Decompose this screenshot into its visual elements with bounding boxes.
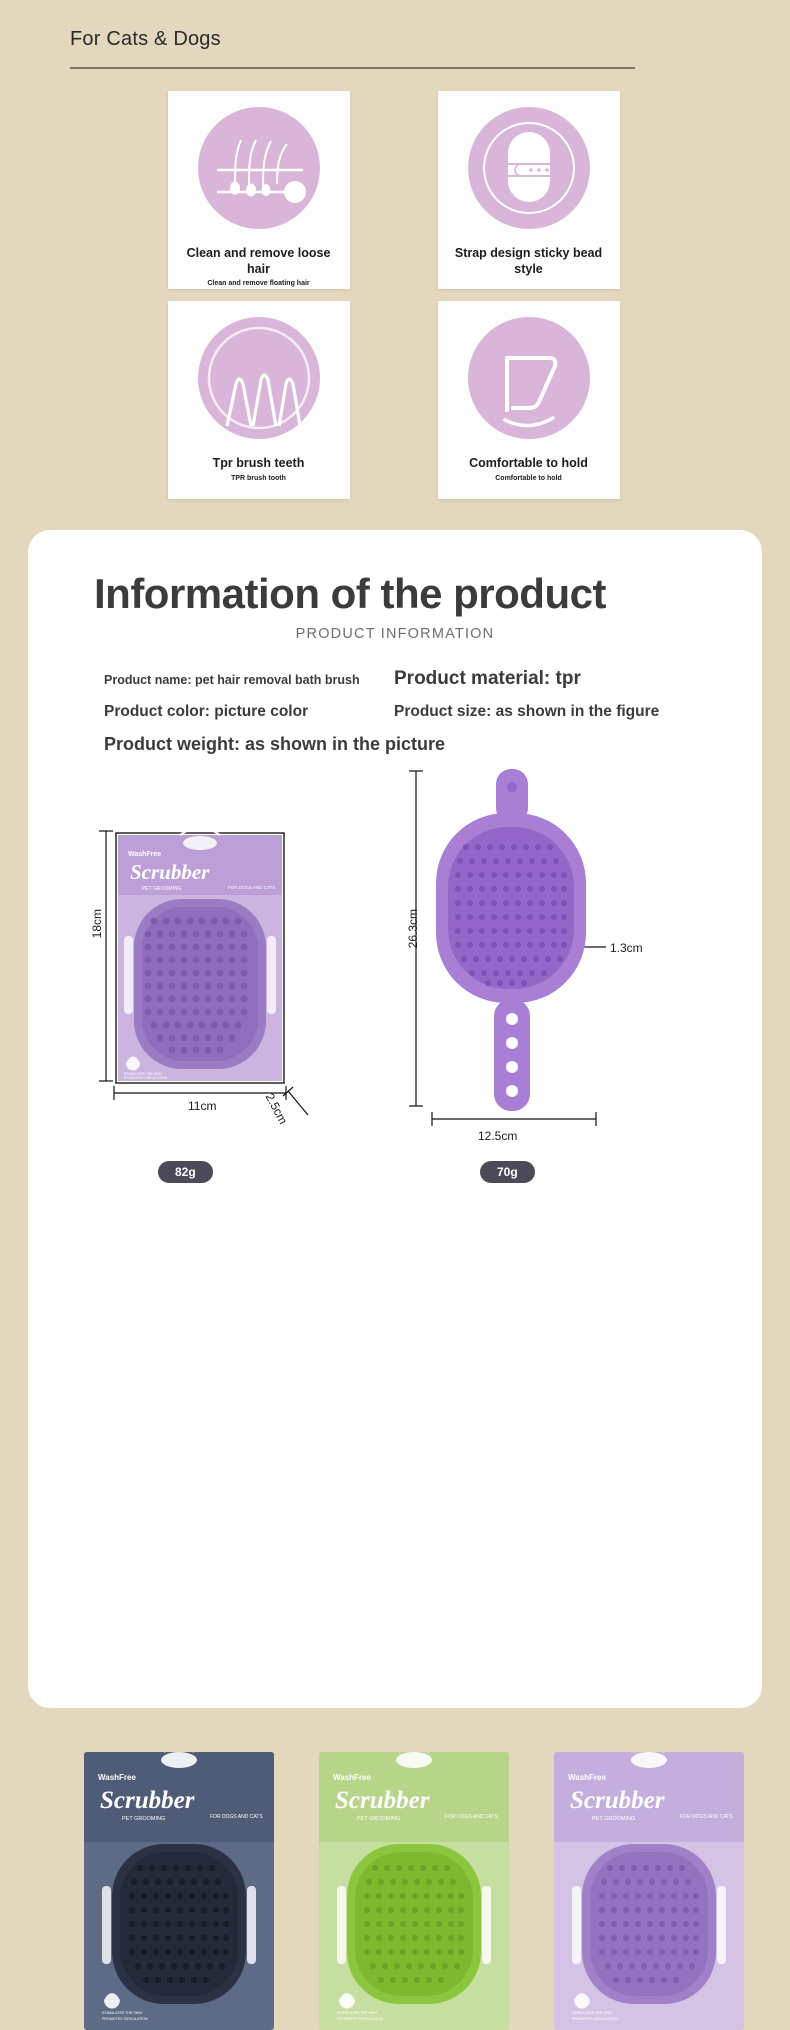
brush-product-diagram — [388, 751, 698, 1151]
feature-caption: Strap design sticky bead style — [446, 246, 611, 277]
brush-strap-icon — [461, 104, 597, 240]
brush-teeth-icon — [191, 314, 327, 450]
information-subtitle: PRODUCT INFORMATION — [28, 626, 762, 642]
weight-badge-packaged: 82g — [158, 1161, 213, 1183]
feature-caption: Clean and remove loose hair — [176, 246, 341, 277]
svg-text:Scrubber: Scrubber — [100, 1787, 195, 1814]
svg-text:WashFree: WashFree — [333, 1773, 371, 1782]
packaged-product-diagram: WashFree Scrubber PET GROOMING FOR DOGS … — [68, 771, 398, 1171]
feature-card-grid: Clean and remove loose hair Clean and re… — [168, 91, 623, 499]
weight-badge-brush: 70g — [480, 1161, 535, 1183]
page-header: For Cats & Dogs — [0, 0, 790, 69]
svg-text:WashFree: WashFree — [98, 1773, 136, 1782]
spec-row-name-material: Product name: pet hair removal bath brus… — [104, 668, 704, 690]
spec-product-size: Product size: as shown in the figure — [394, 703, 659, 721]
variant-card-green[interactable]: WashFree Scrubber PET GROOMING FOR DOGS … — [319, 1752, 509, 2030]
hair-follicle-icon — [191, 104, 327, 240]
svg-text:PROMOTES CIRCULATION: PROMOTES CIRCULATION — [572, 2017, 618, 2021]
variant-card-dark-blue[interactable]: WashFree Scrubber PET GROOMING FOR DOGS … — [84, 1752, 274, 2030]
feature-subtitle: Clean and remove floating hair — [207, 280, 309, 287]
feature-card-tpr-teeth[interactable]: Tpr brush teeth TPR brush tooth — [168, 301, 350, 499]
svg-text:FOR DOGS AND CATS: FOR DOGS AND CATS — [680, 1814, 733, 1820]
svg-text:PET GROOMING: PET GROOMING — [142, 886, 181, 892]
svg-text:FOR DOGS AND CATS: FOR DOGS AND CATS — [445, 1814, 498, 1820]
dimension-label-width-right: 12.5cm — [478, 1129, 517, 1143]
information-title: Information of the product — [94, 570, 762, 618]
dimension-label-thickness-right: 1.3cm — [610, 941, 643, 955]
hand-hold-icon — [461, 314, 597, 450]
spec-product-material: Product material: tpr — [394, 668, 581, 690]
dimension-label-height-right: 26.3cm — [406, 909, 420, 948]
svg-text:Scrubber: Scrubber — [130, 860, 210, 884]
feature-caption: Comfortable to hold — [446, 456, 611, 472]
svg-text:FOR DOGS AND CATS: FOR DOGS AND CATS — [210, 1814, 263, 1820]
svg-text:PROMOTES CIRCULATION: PROMOTES CIRCULATION — [102, 2017, 148, 2021]
svg-text:Scrubber: Scrubber — [570, 1787, 665, 1814]
svg-text:STIMULATES THE SKIN: STIMULATES THE SKIN — [337, 2011, 377, 2015]
spec-product-name: Product name: pet hair removal bath brus… — [104, 673, 394, 687]
svg-text:PET GROOMING: PET GROOMING — [357, 1816, 400, 1822]
svg-text:FOR DOGS AND CATS: FOR DOGS AND CATS — [228, 885, 275, 890]
spec-row-color-size: Product color: picture color Product siz… — [104, 703, 704, 721]
svg-text:PROMOTES CIRCULATION: PROMOTES CIRCULATION — [337, 2017, 383, 2021]
feature-subtitle: Comfortable to hold — [495, 475, 562, 482]
feature-card-clean-hair[interactable]: Clean and remove loose hair Clean and re… — [168, 91, 350, 289]
dimension-label-height-left: 18cm — [90, 909, 104, 938]
svg-text:WashFree: WashFree — [128, 851, 161, 858]
specification-list: Product name: pet hair removal bath brus… — [104, 668, 704, 755]
feature-caption: Tpr brush teeth — [176, 456, 341, 472]
svg-text:Scrubber: Scrubber — [335, 1787, 430, 1814]
svg-text:STIMULATES THE SKIN: STIMULATES THE SKIN — [572, 2011, 612, 2015]
svg-text:PROMOTES CIRCULATION: PROMOTES CIRCULATION — [124, 1076, 168, 1080]
spec-product-color: Product color: picture color — [104, 703, 394, 721]
feature-card-comfortable-hold[interactable]: Comfortable to hold Comfortable to hold — [438, 301, 620, 499]
feature-subtitle: TPR brush tooth — [231, 475, 286, 482]
feature-card-strap-design[interactable]: Strap design sticky bead style — [438, 91, 620, 289]
svg-text:PET GROOMING: PET GROOMING — [592, 1816, 635, 1822]
dimension-diagram-area: WashFree Scrubber PET GROOMING FOR DOGS … — [28, 761, 762, 1181]
color-variant-row: WashFree Scrubber PET GROOMING FOR DOGS … — [84, 1752, 744, 2030]
svg-text:WashFree: WashFree — [568, 1773, 606, 1782]
svg-text:PET GROOMING: PET GROOMING — [122, 1816, 165, 1822]
header-divider — [70, 67, 635, 69]
svg-text:STIMULATES THE SKIN: STIMULATES THE SKIN — [102, 2011, 142, 2015]
dimension-label-width-left: 11cm — [188, 1099, 216, 1113]
variant-card-purple[interactable]: WashFree Scrubber PET GROOMING FOR DOGS … — [554, 1752, 744, 2030]
page-title: For Cats & Dogs — [70, 28, 790, 51]
product-information-panel: Information of the product PRODUCT INFOR… — [28, 530, 762, 1708]
